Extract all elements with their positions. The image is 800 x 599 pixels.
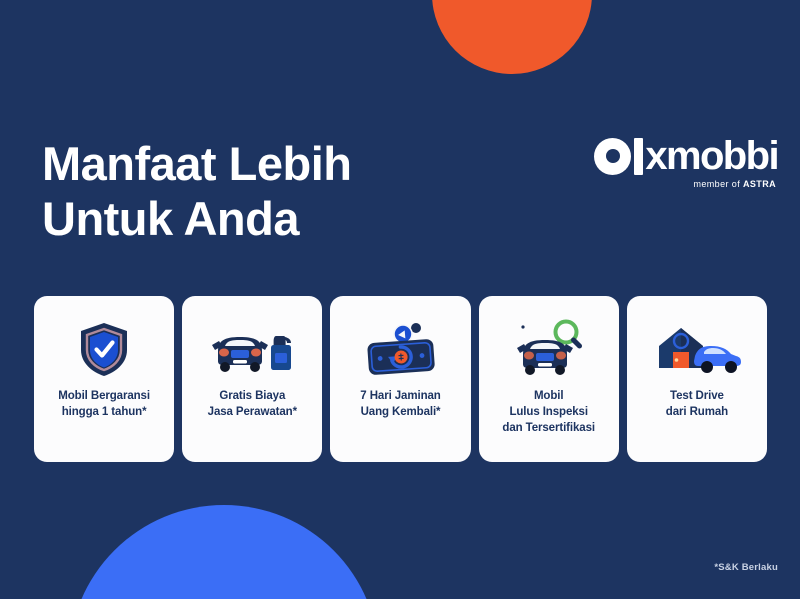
logo-text: xmobbi — [645, 137, 778, 175]
benefit-card-test-drive[interactable]: Test Drive dari Rumah — [627, 296, 767, 462]
benefit-card-inspection[interactable]: Mobil Lulus Inspeksi dan Tersertifikasi — [479, 296, 619, 462]
benefit-card-label: Mobil Bergaransi hingga 1 tahun* — [52, 388, 156, 420]
car-inspection-icon — [509, 318, 589, 380]
logo-bar-icon — [634, 138, 643, 175]
logo-wordmark: xmobbi — [594, 134, 778, 178]
blue-circle — [69, 505, 379, 599]
benefit-card-label: Test Drive dari Rumah — [660, 388, 734, 420]
money-back-icon — [358, 318, 444, 380]
home-test-drive-icon — [651, 318, 743, 380]
car-oil-service-icon — [206, 318, 298, 380]
terms-footnote: *S&K Berlaku — [714, 562, 778, 573]
logo-o-icon — [594, 138, 631, 175]
logo-tagline-prefix: member of — [693, 179, 743, 189]
page-title: Manfaat Lebih Untuk Anda — [42, 136, 351, 246]
benefit-card-label: Mobil Lulus Inspeksi dan Tersertifikasi — [496, 388, 601, 436]
brand-logo: xmobbi member of ASTRA — [594, 134, 778, 189]
benefit-card-list: Mobil Bergaransi hingga 1 tahun* — [34, 296, 767, 462]
benefit-card-label: Gratis Biaya Jasa Perawatan* — [202, 388, 303, 420]
benefit-card-money-back[interactable]: 7 Hari Jaminan Uang Kembali* — [330, 296, 470, 462]
logo-tagline-brand: ASTRA — [743, 179, 776, 189]
logo-tagline: member of ASTRA — [594, 179, 778, 189]
benefit-card-free-service[interactable]: Gratis Biaya Jasa Perawatan* — [182, 296, 322, 462]
benefit-card-warranty[interactable]: Mobil Bergaransi hingga 1 tahun* — [34, 296, 174, 462]
benefit-card-label: 7 Hari Jaminan Uang Kembali* — [354, 388, 446, 420]
orange-circle — [432, 0, 592, 74]
shield-check-icon — [76, 318, 132, 380]
promo-banner: Manfaat Lebih Untuk Anda xmobbi member o… — [0, 0, 800, 599]
